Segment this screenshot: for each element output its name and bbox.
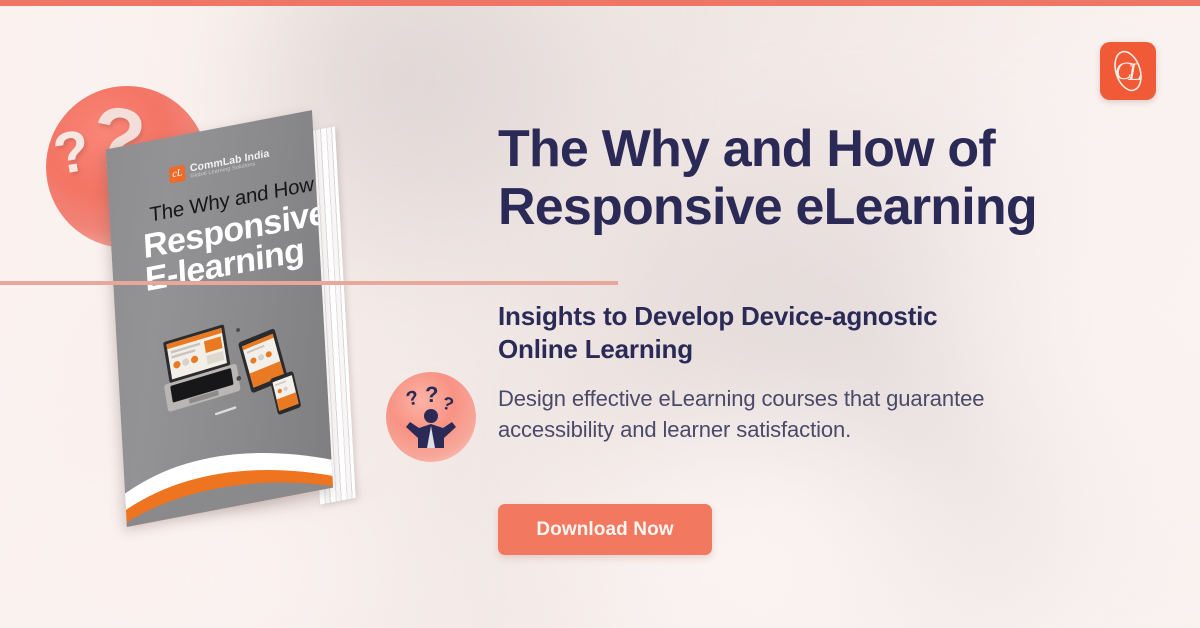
page-title: The Why and How of Responsive eLearning [498, 120, 1138, 236]
subheading: Insights to Develop Device-agnostic Onli… [498, 300, 1058, 367]
content-column: The Why and How of Responsive eLearning … [498, 0, 1138, 628]
headline-line-2: Responsive eLearning [498, 178, 1138, 236]
description-line-2: accessibility and learner satisfaction. [498, 414, 1098, 445]
confused-person-badge: ? ? ? [386, 372, 476, 462]
subheading-line-1: Insights to Develop Device-agnostic [498, 300, 1058, 333]
description-line-1: Design effective eLearning courses that … [498, 383, 1098, 414]
ebook-brand-logo: cL CommLab India Global Learning Solutio… [169, 149, 270, 185]
headline-line-1: The Why and How of [498, 120, 1138, 178]
svg-text:?: ? [440, 393, 456, 415]
description-text: Design effective eLearning courses that … [498, 383, 1098, 445]
commlab-mark-icon: cL [169, 165, 186, 184]
confused-person-icon: ? ? ? [386, 372, 476, 462]
svg-text:?: ? [404, 387, 421, 411]
ebook-cover: cL CommLab India Global Learning Solutio… [106, 110, 333, 527]
subheading-line-2: Online Learning [498, 333, 1058, 366]
promo-banner: C L ? ? ? cL CommLab India Global Learni… [0, 0, 1200, 628]
ebook-mockup: cL CommLab India Global Learning Solutio… [85, 120, 407, 536]
download-now-button[interactable]: Download Now [498, 504, 712, 555]
svg-text:?: ? [425, 382, 438, 407]
